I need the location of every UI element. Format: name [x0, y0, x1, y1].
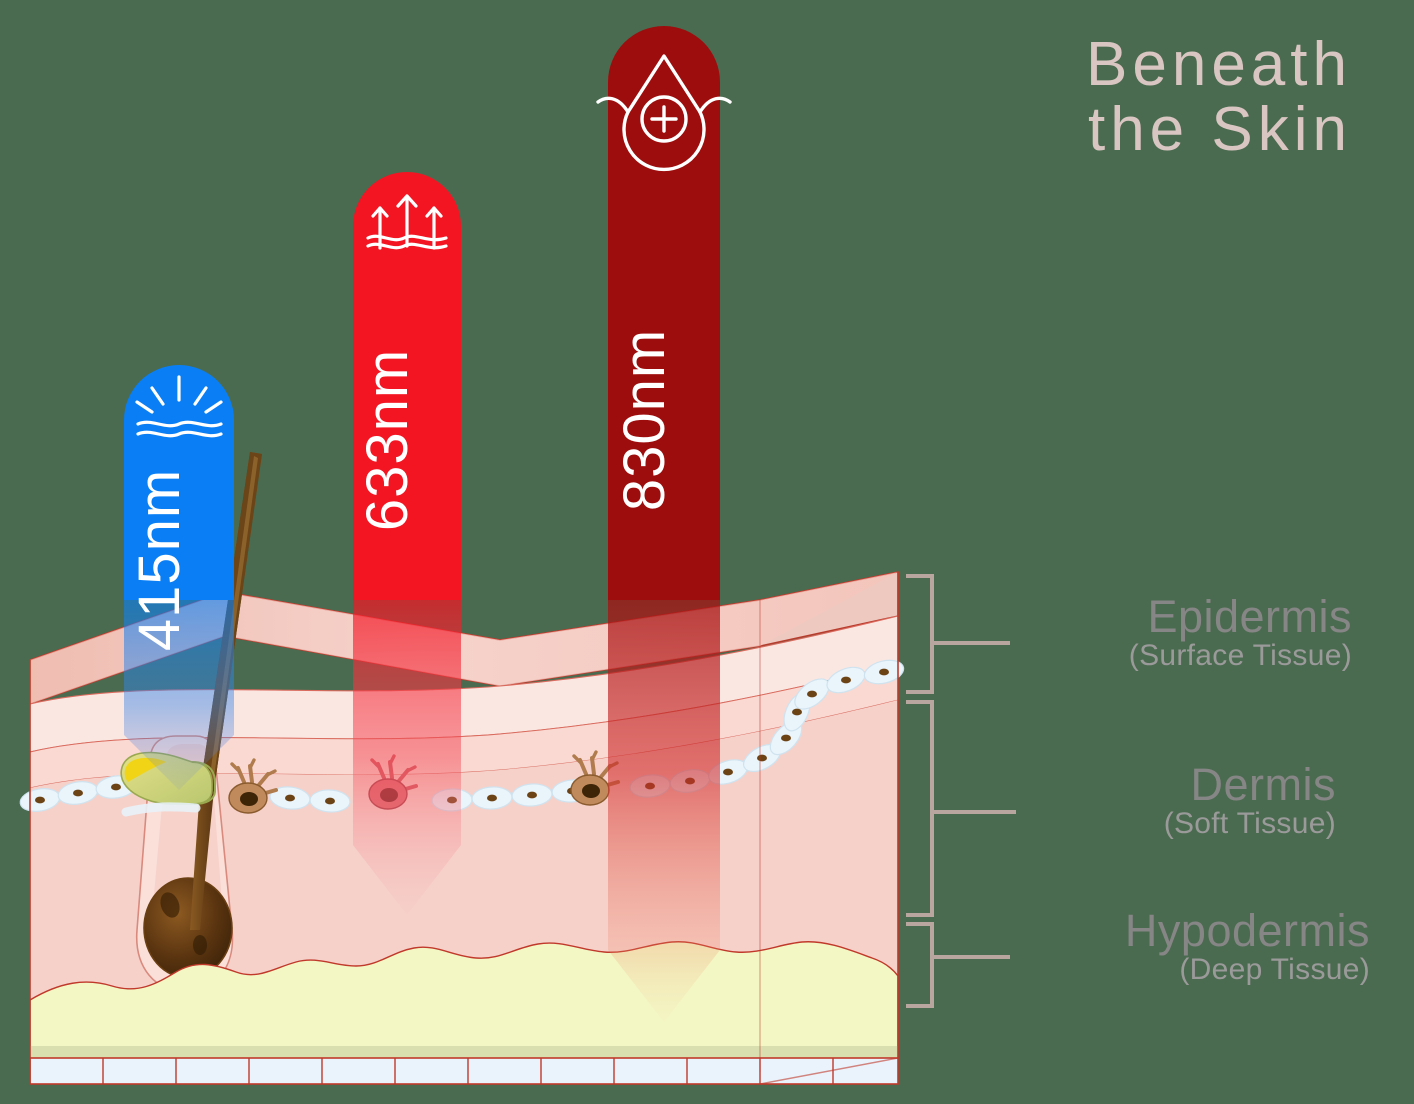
label-epidermis-main: Epidermis: [1129, 594, 1352, 639]
label-dermis-main: Dermis: [1164, 762, 1336, 807]
bracket-epidermis: [906, 576, 1010, 692]
bracket-hypodermis: [906, 924, 1010, 1006]
label-hypodermis-main: Hypodermis: [1125, 908, 1370, 953]
page-title: Beneath the Skin: [1086, 32, 1352, 162]
label-epidermis-sub: (Surface Tissue): [1129, 641, 1352, 671]
infographic-canvas: 830nm 633nm: [0, 0, 1414, 1104]
label-dermis-sub: (Soft Tissue): [1164, 809, 1336, 839]
label-hypodermis: Hypodermis (Deep Tissue): [1125, 908, 1370, 985]
title-line-1: Beneath: [1086, 32, 1352, 97]
label-epidermis: Epidermis (Surface Tissue): [1129, 594, 1352, 671]
bracket-dermis: [906, 702, 1016, 915]
label-hypodermis-sub: (Deep Tissue): [1125, 955, 1370, 985]
label-dermis: Dermis (Soft Tissue): [1164, 762, 1336, 839]
title-line-2: the Skin: [1086, 97, 1352, 162]
